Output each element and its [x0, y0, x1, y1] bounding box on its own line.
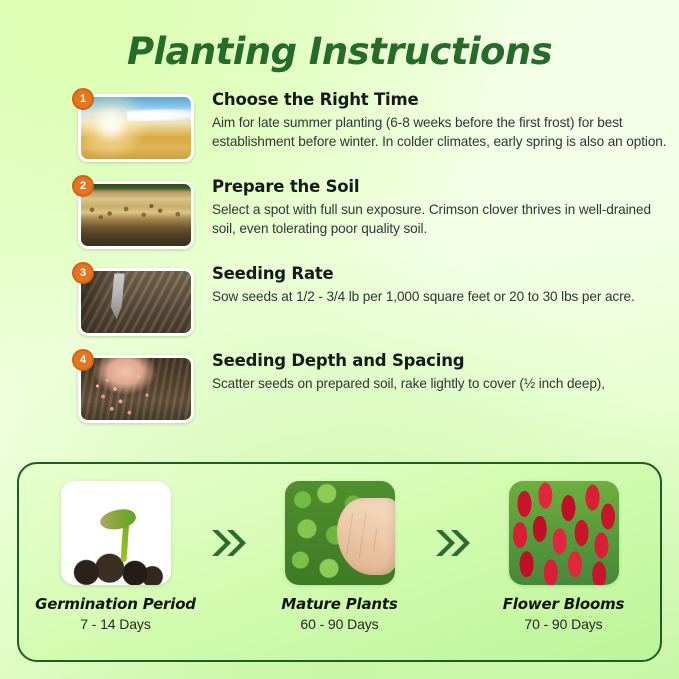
timeline-stage: Mature Plants 60 - 90 Days [254, 481, 426, 632]
double-chevron-right-icon [202, 481, 254, 559]
steps-list: 1 Choose the Right Time Aim for late sum… [72, 88, 672, 436]
step-number-badge: 1 [72, 88, 94, 110]
step-text: Prepare the Soil Select a spot with full… [212, 175, 672, 239]
step-heading: Seeding Rate [212, 264, 672, 283]
growth-timeline-panel: Germination Period 7 - 14 Days Mature Pl… [17, 462, 662, 662]
step-number-badge: 3 [72, 262, 94, 284]
hand-scattering-seeds-photo [78, 355, 194, 423]
step-item: 1 Choose the Right Time Aim for late sum… [72, 88, 672, 164]
step-thumbnail-wrap: 2 [72, 175, 194, 249]
page-title: Planting Instructions [0, 30, 679, 73]
step-item: 3 Seeding Rate Sow seeds at 1/2 - 3/4 lb… [72, 262, 672, 338]
step-body: Scatter seeds on prepared soil, rake lig… [212, 374, 672, 393]
step-text: Choose the Right Time Aim for late summe… [212, 88, 672, 152]
clover-leaves-with-hand-photo [285, 481, 395, 585]
harvested-field-with-hay-bales-photo [78, 181, 194, 249]
timeline-stage-duration: 60 - 90 Days [254, 616, 426, 632]
step-text: Seeding Depth and Spacing Scatter seeds … [212, 349, 672, 393]
step-item: 2 Prepare the Soil Select a spot with fu… [72, 175, 672, 251]
double-chevron-right-icon [426, 481, 478, 559]
timeline-stage-duration: 70 - 90 Days [478, 616, 650, 632]
step-thumbnail-wrap: 1 [72, 88, 194, 162]
timeline-stage-label: Germination Period [30, 595, 202, 613]
step-heading: Choose the Right Time [212, 90, 672, 109]
step-body: Aim for late summer planting (6-8 weeks … [212, 113, 672, 152]
timeline-stage: Germination Period 7 - 14 Days [30, 481, 202, 632]
step-body: Select a spot with full sun exposure. Cr… [212, 200, 672, 239]
timeline-stage-label: Mature Plants [254, 595, 426, 613]
sprouting-seedling-photo [61, 481, 171, 585]
step-thumbnail-wrap: 4 [72, 349, 194, 423]
step-body: Sow seeds at 1/2 - 3/4 lb per 1,000 squa… [212, 287, 672, 306]
crimson-clover-blooms-photo [509, 481, 619, 585]
timeline-stage: Flower Blooms 70 - 90 Days [478, 481, 650, 632]
timeline-stage-label: Flower Blooms [478, 595, 650, 613]
sunrise-over-wheat-field-photo [78, 94, 194, 162]
spade-in-tilled-soil-photo [78, 268, 194, 336]
timeline-stage-duration: 7 - 14 Days [30, 616, 202, 632]
step-heading: Prepare the Soil [212, 177, 672, 196]
step-number-badge: 2 [72, 175, 94, 197]
step-heading: Seeding Depth and Spacing [212, 351, 672, 370]
step-item: 4 Seeding Depth and Spacing Scatter seed… [72, 349, 672, 425]
step-thumbnail-wrap: 3 [72, 262, 194, 336]
step-number-badge: 4 [72, 349, 94, 371]
planting-instructions-infographic: Planting Instructions 1 Choose the Right… [0, 0, 679, 679]
step-text: Seeding Rate Sow seeds at 1/2 - 3/4 lb p… [212, 262, 672, 306]
